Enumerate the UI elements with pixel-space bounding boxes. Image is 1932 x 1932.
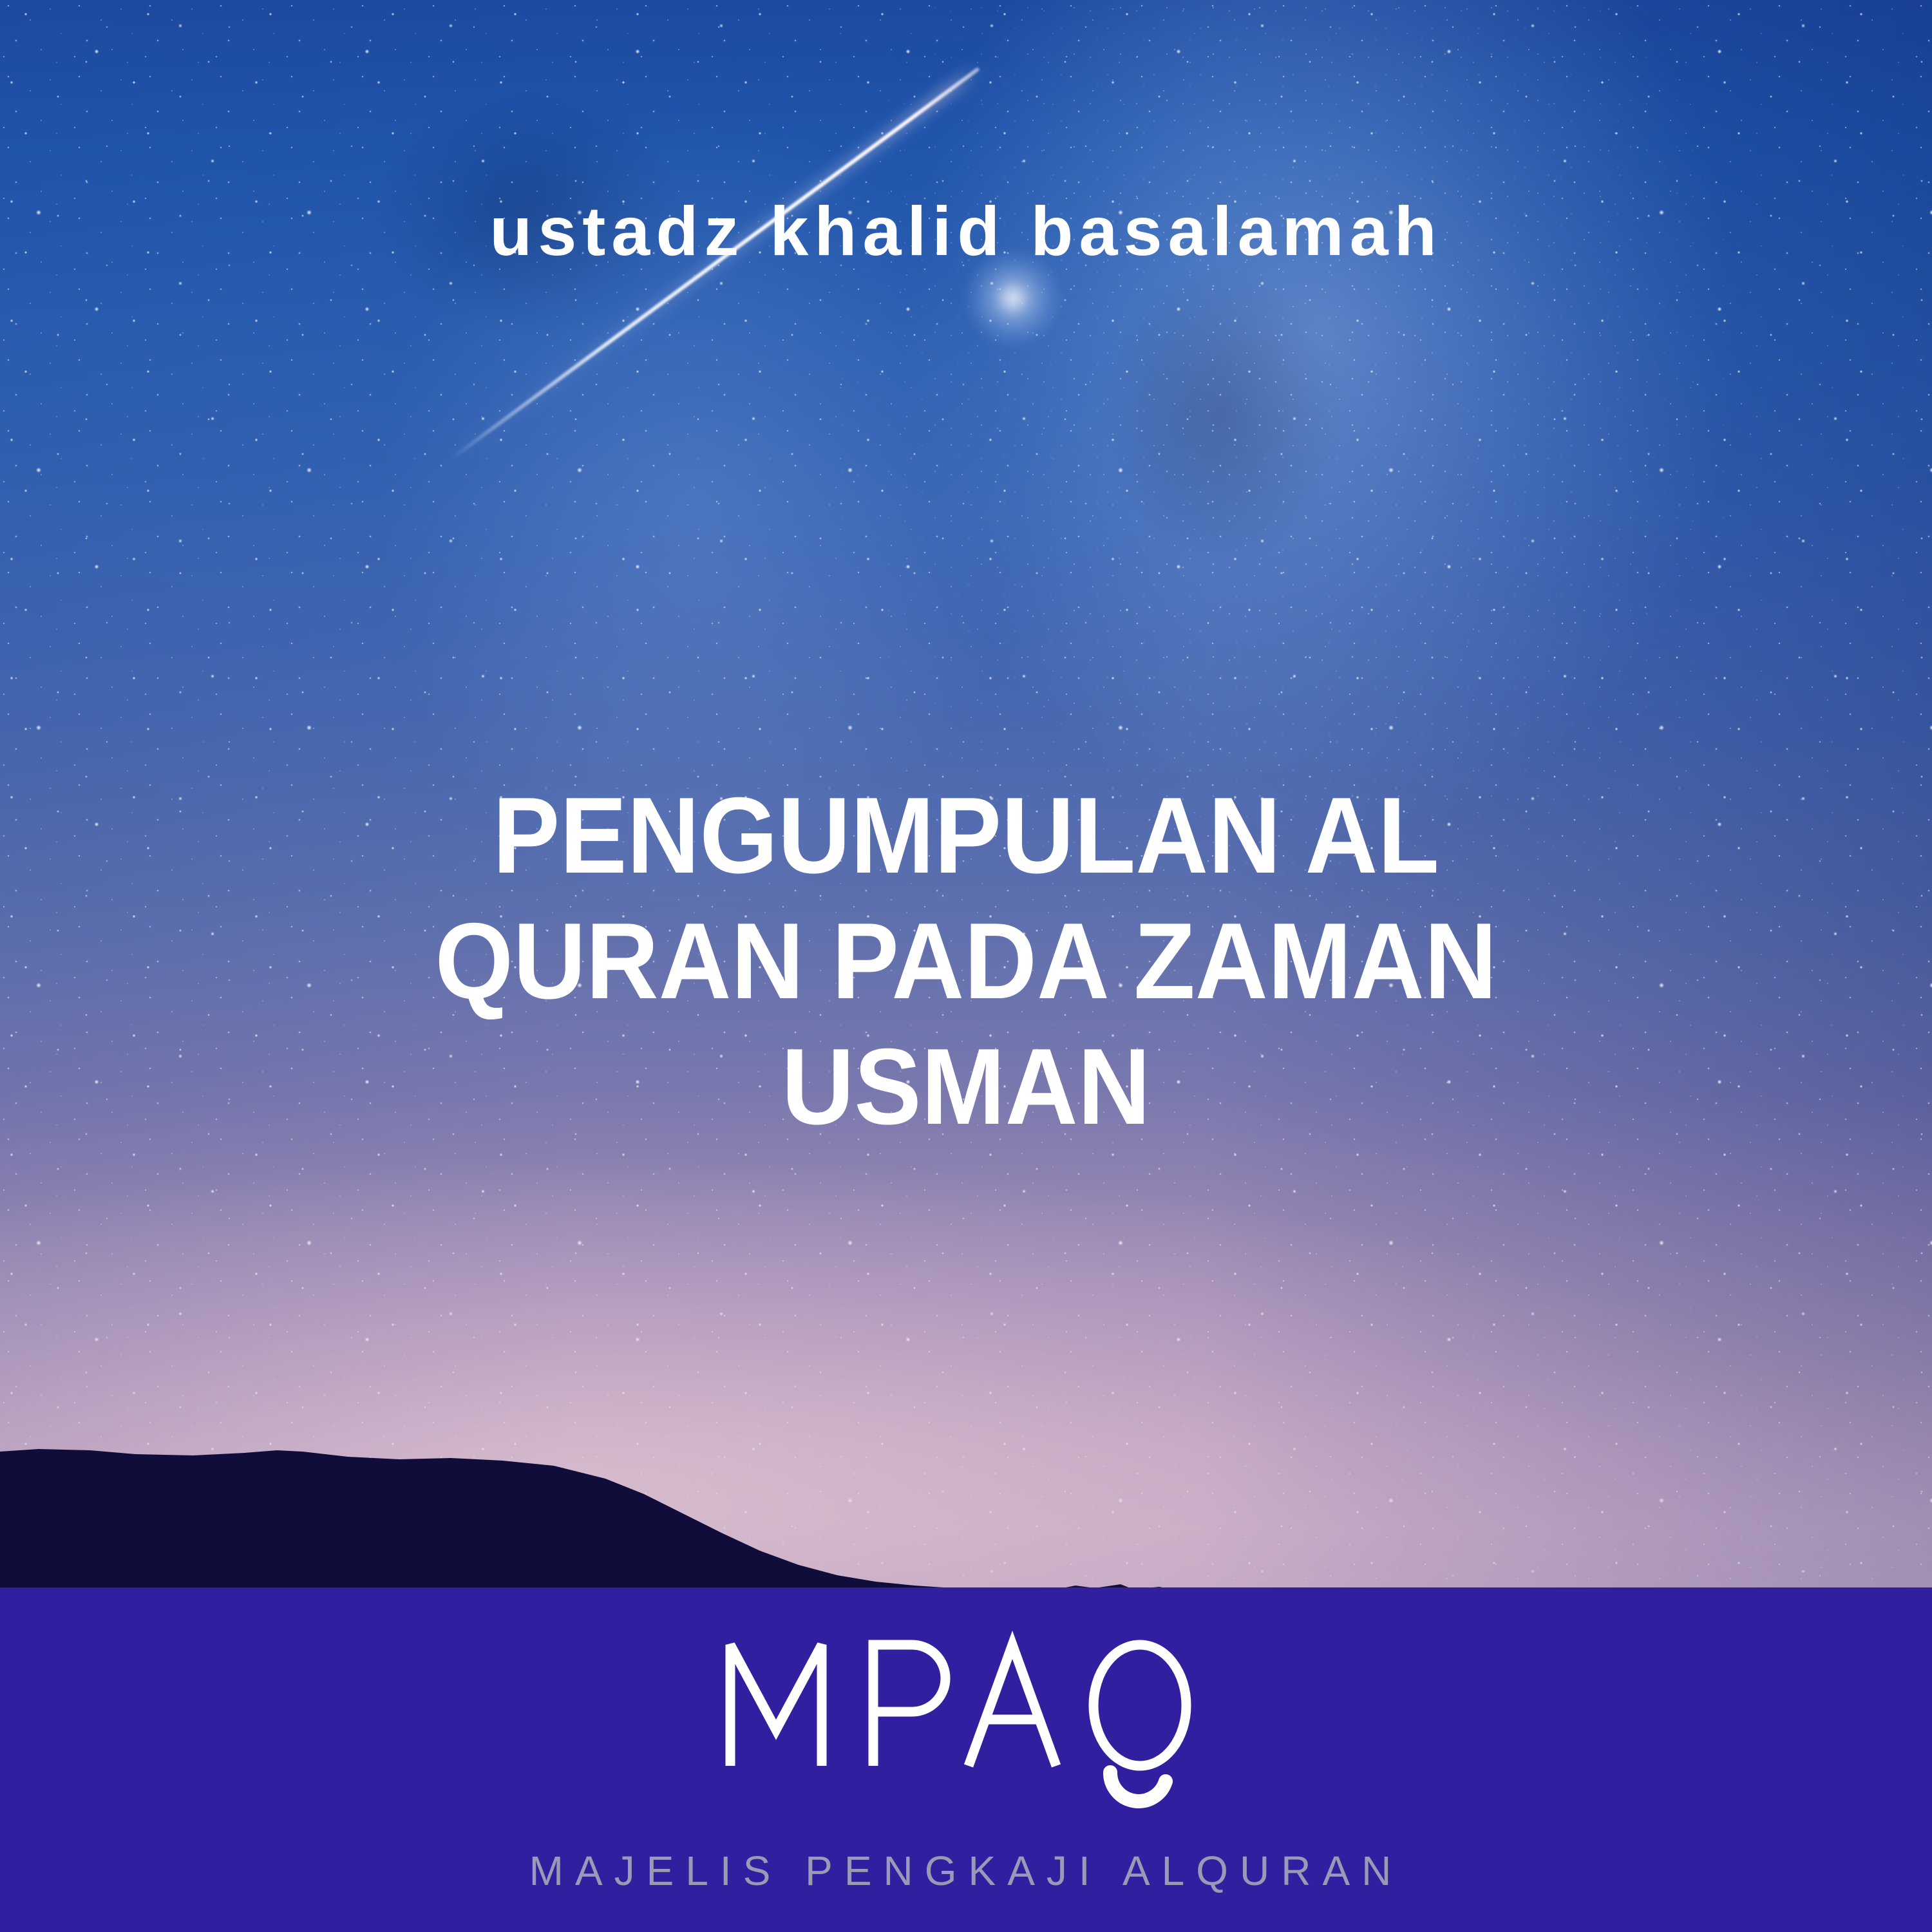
mpaq-logomark xyxy=(715,1623,1217,1816)
title-line-3: USMAN xyxy=(218,1024,1715,1150)
poster-canvas: ustadz khalid basalamah PENGUMPULAN AL Q… xyxy=(0,0,1932,1932)
mountain-silhouette xyxy=(0,1404,1932,1591)
brand-tagline: MAJELIS PENGKAJI ALQURAN xyxy=(0,1847,1932,1895)
title-line-2: QURAN PADA ZAMAN xyxy=(218,898,1715,1024)
brand-logo xyxy=(0,1623,1932,1816)
speaker-name: ustadz khalid basalamah xyxy=(0,193,1932,270)
page-title: PENGUMPULAN AL QURAN PADA ZAMAN USMAN xyxy=(218,773,1715,1150)
title-line-1: PENGUMPULAN AL xyxy=(218,773,1715,898)
